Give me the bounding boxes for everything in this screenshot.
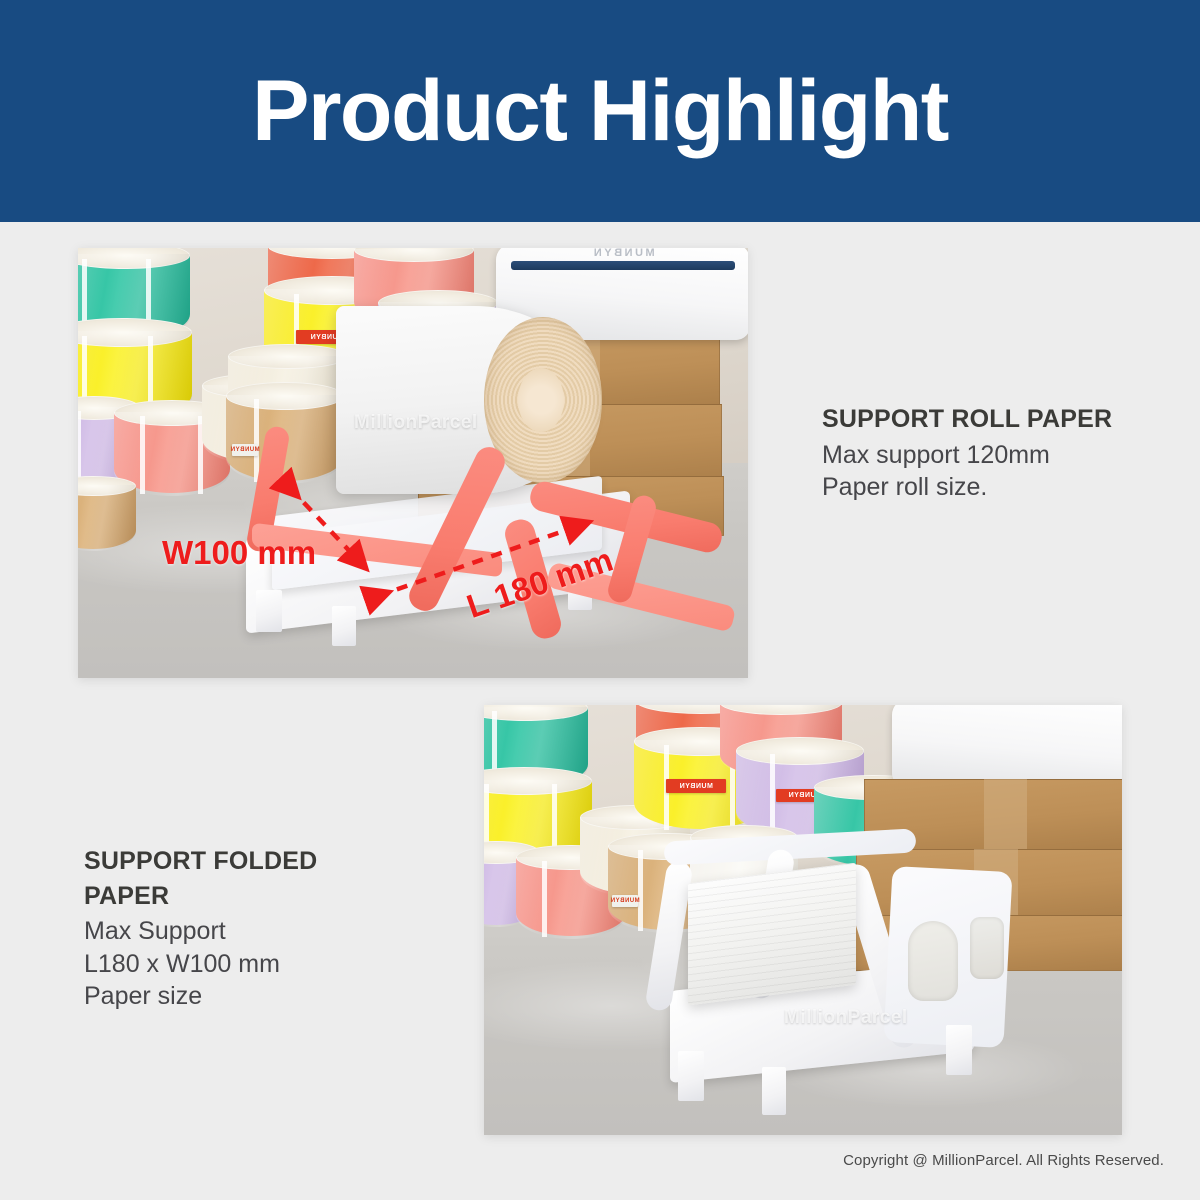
feature-line: Max support 120mm: [822, 439, 1170, 472]
feature-support-folded-paper: SUPPORT FOLDED PAPER Max Support L180 x …: [84, 846, 414, 1013]
label-roll-kraft-corner: [78, 476, 136, 554]
product-photo-roll-paper: MUNBYN MUN: [78, 248, 748, 678]
roll-seam: [140, 416, 145, 494]
feature-support-roll-paper: SUPPORT ROLL PAPER Max support 120mm Pap…: [822, 404, 1170, 504]
feature-heading-line2: PAPER: [84, 881, 414, 912]
munbyn-roll-sticker: MUNBYN: [612, 895, 638, 907]
folded-paper-stack: [688, 863, 856, 1006]
feature-line: Max Support: [84, 915, 414, 948]
stand-leg: [678, 1051, 704, 1101]
roll-seam: [78, 411, 81, 483]
product-highlight-page: Product Highlight: [0, 0, 1200, 1200]
printer-shell: [892, 705, 1122, 787]
stand-cutout-oval: [908, 921, 958, 1001]
product-photo-folded-paper: MUNBYN MUNBYN: [484, 705, 1122, 1135]
printer-brand-label: MUNBYN: [496, 248, 748, 259]
footer-copyright: Copyright @ MillionParcel. All Rights Re…: [843, 1152, 1164, 1169]
feature-line: Paper roll size.: [822, 471, 1170, 504]
photo-watermark: MillionParcel: [784, 1007, 908, 1029]
feature-heading: SUPPORT ROLL PAPER: [822, 404, 1170, 435]
folded-paper-fold-lines: [688, 863, 856, 1006]
printer-paper-slot: [511, 261, 735, 270]
feature-line: Paper size: [84, 980, 414, 1013]
stand-cutout-rect: [970, 917, 1004, 979]
stand-leg: [762, 1067, 786, 1115]
munbyn-roll-sticker: MUNBYN: [666, 779, 726, 793]
dimension-label-width: W100 mm: [162, 534, 316, 572]
feature-line: L180 x W100 mm: [84, 948, 414, 981]
photo-scene: MUNBYN MUN: [78, 248, 748, 678]
page-title: Product Highlight: [252, 68, 948, 154]
feature-heading-line1: SUPPORT FOLDED: [84, 846, 414, 877]
roll-seam: [542, 861, 547, 937]
paper-holder-arms-pink: [228, 398, 658, 638]
munbyn-printer: [892, 705, 1122, 787]
roll-gloss: [78, 485, 136, 551]
photo-watermark: MillionParcel: [354, 412, 478, 434]
photo-scene: MUNBYN MUNBYN: [484, 705, 1122, 1135]
header-banner: Product Highlight: [0, 0, 1200, 222]
stand-leg: [946, 1025, 972, 1075]
